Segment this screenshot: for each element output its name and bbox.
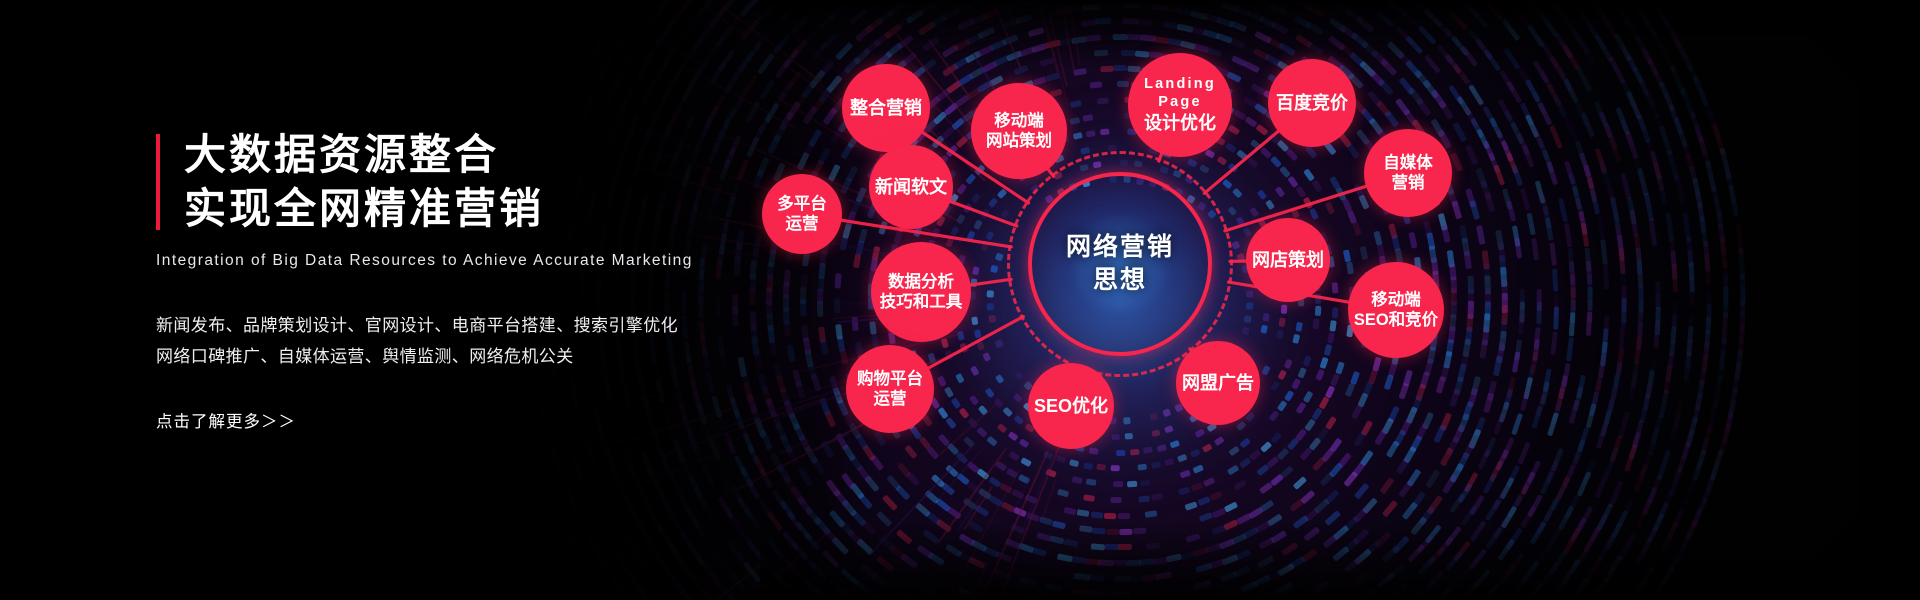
bubble-label-line-1: Landing Page bbox=[1132, 76, 1228, 112]
bubble-label-line-2: 营销 bbox=[1383, 173, 1433, 193]
bubble-label-line-1: 移动端 bbox=[1354, 290, 1438, 310]
bubble-self-media-marketing[interactable]: 自媒体营销 bbox=[1364, 129, 1452, 217]
bubble-multi-platform-operation[interactable]: 多平台运营 bbox=[762, 174, 842, 254]
bubble-baidu-bidding[interactable]: 百度竞价 bbox=[1268, 59, 1356, 147]
bubble-union-advertising[interactable]: 网盟广告 bbox=[1176, 341, 1260, 425]
bubble-label-line-1: 自媒体 bbox=[1383, 153, 1433, 173]
bubble-label: 数据分析技巧和工具 bbox=[876, 272, 967, 313]
bubble-label-line-1: SEO优化 bbox=[1034, 395, 1108, 417]
bubble-online-store-planning[interactable]: 网店策划 bbox=[1246, 218, 1330, 302]
bubble-label: 网盟广告 bbox=[1178, 372, 1258, 394]
bubble-news-soft-article[interactable]: 新闻软文 bbox=[869, 145, 953, 229]
marketing-mindmap: 网络营销 思想 整合营销移动端网站策划Landing Page设计优化百度竞价自… bbox=[0, 0, 1920, 600]
bubble-label-line-1: 网盟广告 bbox=[1182, 372, 1254, 394]
bubble-label: 购物平台运营 bbox=[853, 369, 927, 410]
bubble-label-line-2: 运营 bbox=[857, 389, 923, 409]
hub-label: 网络营销 思想 bbox=[1020, 231, 1220, 297]
bubble-label-line-1: 购物平台 bbox=[857, 369, 923, 389]
bubble-label-line-1: 网店策划 bbox=[1252, 249, 1324, 271]
bubble-mobile-seo-bidding[interactable]: 移动端SEO和竞价 bbox=[1348, 262, 1444, 358]
hub-label-line-1: 网络营销 bbox=[1020, 231, 1220, 264]
bubble-label: SEO优化 bbox=[1030, 395, 1112, 417]
bubble-label: 百度竞价 bbox=[1272, 92, 1352, 114]
bubble-label: 网店策划 bbox=[1248, 249, 1328, 271]
bubble-label-line-2: 网站策划 bbox=[986, 131, 1052, 151]
bubble-label-line-2: 技巧和工具 bbox=[880, 292, 963, 312]
bubble-integrated-marketing[interactable]: 整合营销 bbox=[842, 64, 930, 152]
bubble-label: 移动端SEO和竞价 bbox=[1350, 290, 1442, 331]
bubble-label-line-2: 设计优化 bbox=[1132, 112, 1228, 134]
hub-label-line-2: 思想 bbox=[1020, 264, 1220, 297]
bubble-label: 移动端网站策划 bbox=[982, 111, 1056, 152]
bubble-label-line-1: 数据分析 bbox=[880, 272, 963, 292]
bubble-label-line-1: 百度竞价 bbox=[1276, 92, 1348, 114]
bubble-label-line-2: 运营 bbox=[777, 214, 827, 234]
bubble-label: 自媒体营销 bbox=[1379, 153, 1437, 194]
bubble-label: 整合营销 bbox=[846, 97, 926, 119]
bubble-label-line-1: 新闻软文 bbox=[875, 176, 947, 198]
banner-root: 大数据资源整合 实现全网精准营销 Integration of Big Data… bbox=[0, 0, 1920, 600]
bubble-seo-optimization[interactable]: SEO优化 bbox=[1028, 363, 1114, 449]
bubble-mobile-site-planning[interactable]: 移动端网站策划 bbox=[971, 83, 1067, 179]
bubble-data-analysis-tools[interactable]: 数据分析技巧和工具 bbox=[871, 242, 971, 342]
bubble-landing-page-design[interactable]: Landing Page设计优化 bbox=[1128, 53, 1232, 157]
bubble-label-line-1: 移动端 bbox=[986, 111, 1052, 131]
bubble-label: Landing Page设计优化 bbox=[1128, 76, 1232, 134]
bubble-label-line-2: SEO和竞价 bbox=[1354, 310, 1438, 330]
bubble-label: 多平台运营 bbox=[773, 194, 831, 235]
bubble-label-line-1: 整合营销 bbox=[850, 97, 922, 119]
bubble-shopping-platform-operation[interactable]: 购物平台运营 bbox=[846, 345, 934, 433]
bubble-label: 新闻软文 bbox=[871, 176, 951, 198]
bubble-label-line-1: 多平台 bbox=[777, 194, 827, 214]
